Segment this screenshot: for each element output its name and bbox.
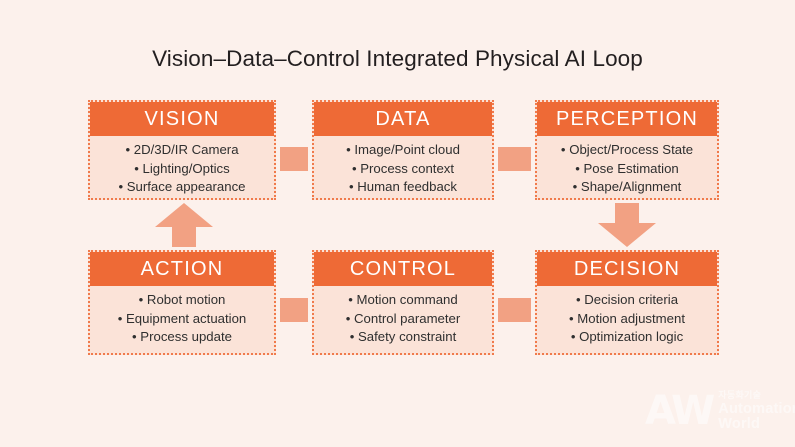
logo-korean-text: 자동화기술	[718, 391, 795, 400]
node-action-item-1: • Robot motion	[139, 291, 226, 310]
node-data-item-2: • Process context	[352, 160, 454, 179]
node-control-body: • Motion command • Control parameter • S…	[314, 286, 492, 354]
connector-data-to-perception	[498, 147, 531, 171]
node-perception-item-1: • Object/Process State	[561, 141, 693, 160]
node-action-item-2: • Equipment actuation	[118, 310, 247, 329]
arrow-up-icon-action-to-vision	[155, 203, 213, 247]
node-action-body: • Robot motion • Equipment actuation • P…	[90, 286, 274, 354]
automation-world-logo: AW 자동화기술 Automation World	[645, 386, 785, 436]
connector-vision-to-data	[280, 147, 308, 171]
node-control-title: CONTROL	[314, 252, 492, 286]
logo-line-2: World	[718, 417, 795, 432]
logo-line-1: Automation	[718, 402, 795, 417]
node-perception-body: • Object/Process State • Pose Estimation…	[537, 136, 717, 200]
node-control[interactable]: CONTROL • Motion command • Control param…	[312, 250, 494, 355]
node-data-item-1: • Image/Point cloud	[346, 141, 460, 160]
node-perception-title: PERCEPTION	[537, 102, 717, 136]
node-vision-item-3: • Surface appearance	[118, 178, 245, 197]
node-decision-item-1: • Decision criteria	[576, 291, 678, 310]
node-data-item-3: • Human feedback	[349, 178, 457, 197]
node-decision-body: • Decision criteria • Motion adjustment …	[537, 286, 717, 354]
node-vision-item-2: • Lighting/Optics	[134, 160, 230, 179]
node-vision-title: VISION	[90, 102, 274, 136]
node-decision[interactable]: DECISION • Decision criteria • Motion ad…	[535, 250, 719, 355]
node-data-body: • Image/Point cloud • Process context • …	[314, 136, 492, 200]
node-decision-item-2: • Motion adjustment	[569, 310, 685, 329]
node-vision-body: • 2D/3D/IR Camera • Lighting/Optics • Su…	[90, 136, 274, 200]
node-action-title: ACTION	[90, 252, 274, 286]
node-data[interactable]: DATA • Image/Point cloud • Process conte…	[312, 100, 494, 200]
node-control-item-2: • Control parameter	[346, 310, 461, 329]
connector-decision-to-control	[498, 298, 531, 322]
node-action[interactable]: ACTION • Robot motion • Equipment actuat…	[88, 250, 276, 355]
connector-control-to-action	[280, 298, 308, 322]
node-data-title: DATA	[314, 102, 492, 136]
logo-wordmark: 자동화기술 Automation World	[718, 391, 795, 432]
node-decision-title: DECISION	[537, 252, 717, 286]
diagram-canvas: Vision–Data–Control Integrated Physical …	[0, 0, 795, 447]
logo-mark-aw: AW	[645, 391, 712, 431]
node-vision[interactable]: VISION • 2D/3D/IR Camera • Lighting/Opti…	[88, 100, 276, 200]
page-title: Vision–Data–Control Integrated Physical …	[0, 46, 795, 72]
node-control-item-1: • Motion command	[348, 291, 457, 310]
arrow-down-icon-perception-to-decision	[598, 203, 656, 247]
node-decision-item-3: • Optimization logic	[571, 328, 683, 347]
node-perception[interactable]: PERCEPTION • Object/Process State • Pose…	[535, 100, 719, 200]
node-action-item-3: • Process update	[132, 328, 232, 347]
node-control-item-3: • Safety constraint	[350, 328, 457, 347]
node-perception-item-3: • Shape/Alignment	[573, 178, 682, 197]
node-perception-item-2: • Pose Estimation	[575, 160, 679, 179]
node-vision-item-1: • 2D/3D/IR Camera	[125, 141, 238, 160]
